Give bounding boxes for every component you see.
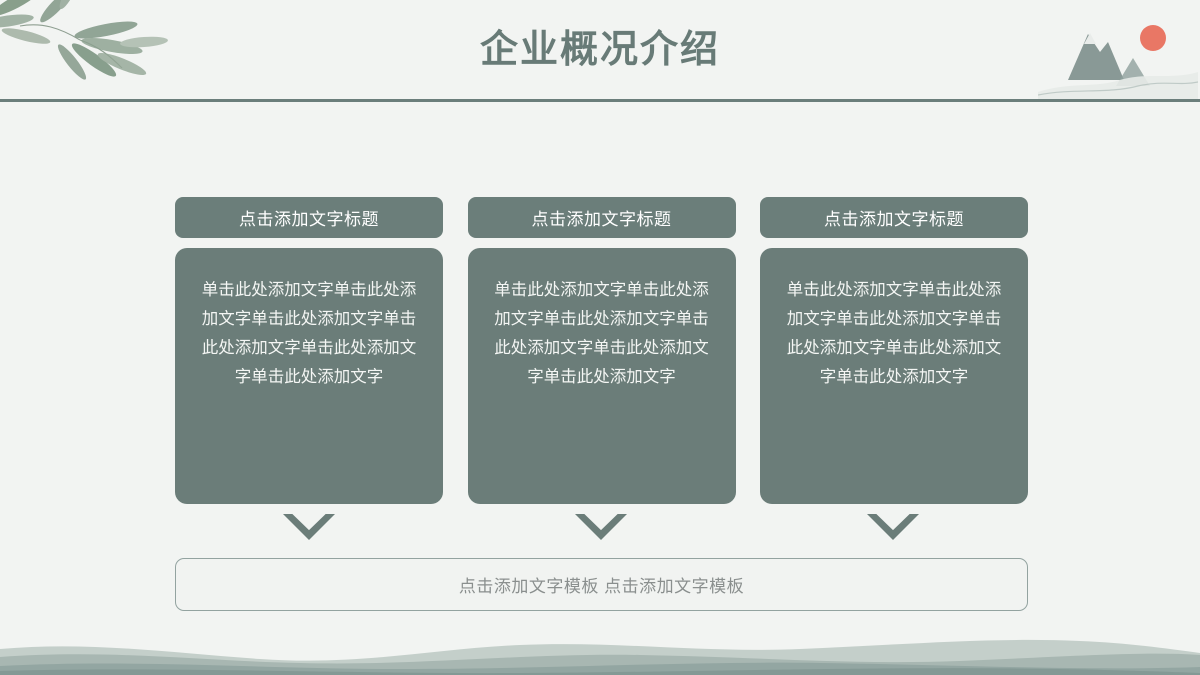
card-header[interactable]: 点击添加文字标题 — [468, 197, 736, 238]
info-card[interactable]: 点击添加文字标题 单击此处添加文字单击此处添加文字单击此处添加文字单击此处添加文… — [175, 197, 443, 504]
card-row: 点击添加文字标题 单击此处添加文字单击此处添加文字单击此处添加文字单击此处添加文… — [175, 197, 1028, 504]
card-body-text[interactable]: 单击此处添加文字单击此处添加文字单击此处添加文字单击此处添加文字单击此处添加文字… — [175, 248, 443, 504]
footer-label: 点击添加文字模板 点击添加文字模板 — [459, 572, 744, 597]
card-body-text[interactable]: 单击此处添加文字单击此处添加文字单击此处添加文字单击此处添加文字单击此处添加文字… — [468, 248, 736, 504]
card-body-text[interactable]: 单击此处添加文字单击此处添加文字单击此处添加文字单击此处添加文字单击此处添加文字… — [760, 248, 1028, 504]
info-card[interactable]: 点击添加文字标题 单击此处添加文字单击此处添加文字单击此处添加文字单击此处添加文… — [760, 197, 1028, 504]
chevron-row — [175, 514, 1028, 540]
chevron-down-icon — [867, 514, 919, 540]
info-card[interactable]: 点击添加文字标题 单击此处添加文字单击此处添加文字单击此处添加文字单击此处添加文… — [468, 197, 736, 504]
header-divider — [0, 99, 1200, 102]
footer-text-box[interactable]: 点击添加文字模板 点击添加文字模板 — [175, 558, 1028, 611]
ink-hills-icon — [0, 619, 1200, 675]
chevron-down-icon — [283, 514, 335, 540]
card-header[interactable]: 点击添加文字标题 — [175, 197, 443, 238]
card-header[interactable]: 点击添加文字标题 — [760, 197, 1028, 238]
slide-canvas: 企业概况介绍 点击添加文字标题 单击此处添加文字单击此处添加文字单击此处添加文字… — [0, 0, 1200, 675]
page-title: 企业概况介绍 — [0, 28, 1200, 72]
chevron-down-icon — [575, 514, 627, 540]
